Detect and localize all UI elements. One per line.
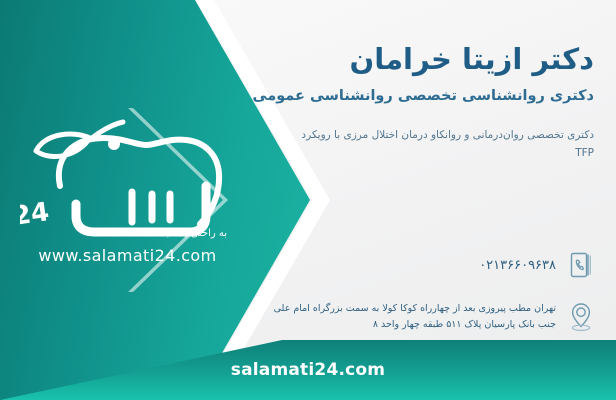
doctor-description: دکتری تخصصی روان‌درمانی و روانکاو درمان … bbox=[294, 126, 594, 163]
phone-number: ۰۲۱۳۶۶۰۹۶۳۸ bbox=[268, 258, 564, 273]
salamati24-logo: 24 به راحتی یک لبخند www.salamati24.com bbox=[20, 108, 235, 273]
doctor-profile-card: 24 به راحتی یک لبخند www.salamati24.com … bbox=[0, 0, 616, 400]
logo-tagline: به راحتی یک لبخند bbox=[152, 228, 227, 239]
doctor-specialty: دکتری روانشناسی تخصصی روانشناسی عمومی bbox=[253, 88, 594, 104]
address-row[interactable]: تهران مطب پیروزی بعد از چهارراه کوکا کول… bbox=[268, 298, 598, 336]
map-pin-icon bbox=[564, 298, 598, 336]
svg-text:24: 24 bbox=[20, 197, 51, 232]
contact-block: ۰۲۱۳۶۶۰۹۶۳۸ تهران مطب پیروزی بعد از چهار… bbox=[268, 246, 598, 350]
phone-book-icon bbox=[564, 246, 598, 284]
footer-website-url[interactable]: salamati24.com bbox=[0, 360, 616, 380]
logo-website-url: www.salamati24.com bbox=[20, 246, 235, 265]
doctor-name: دکتر ازیتا خرامان bbox=[349, 42, 594, 76]
phone-row[interactable]: ۰۲۱۳۶۶۰۹۶۳۸ bbox=[268, 246, 598, 284]
apple-outline-icon: 24 bbox=[20, 108, 235, 248]
clinic-address: تهران مطب پیروزی بعد از چهارراه کوکا کول… bbox=[268, 301, 564, 333]
